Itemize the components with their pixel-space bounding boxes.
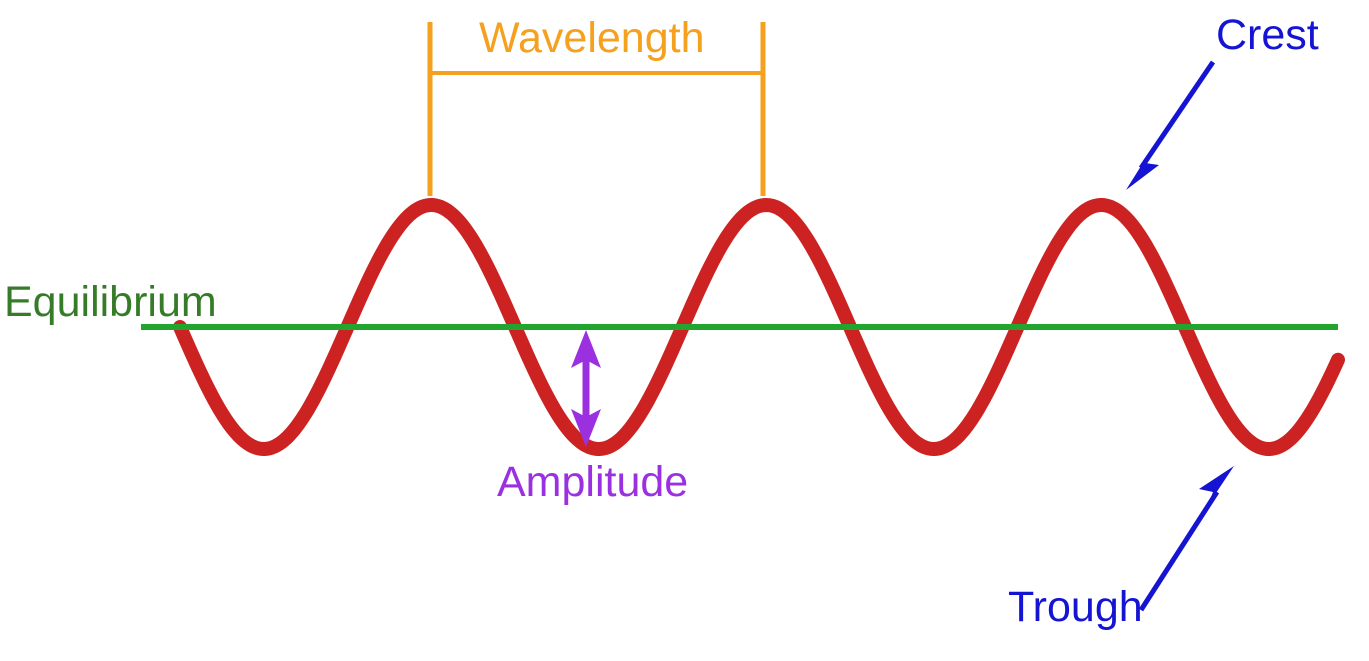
trough-arrow-shaft <box>1141 492 1217 610</box>
wave-diagram: Equilibrium Wavelength Amplitude Crest T… <box>0 0 1369 661</box>
wave-diagram-canvas <box>0 0 1369 661</box>
crest-arrowhead <box>1126 150 1159 190</box>
crest-arrow-shaft <box>1141 62 1213 168</box>
trough-arrow <box>1141 466 1234 610</box>
equilibrium-label: Equilibrium <box>4 281 217 324</box>
trough-label: Trough <box>1008 586 1143 629</box>
crest-arrow <box>1126 62 1213 190</box>
wavelength-label: Wavelength <box>479 17 704 60</box>
amplitude-label: Amplitude <box>497 461 688 504</box>
crest-label: Crest <box>1216 14 1319 57</box>
trough-arrowhead <box>1199 466 1234 505</box>
